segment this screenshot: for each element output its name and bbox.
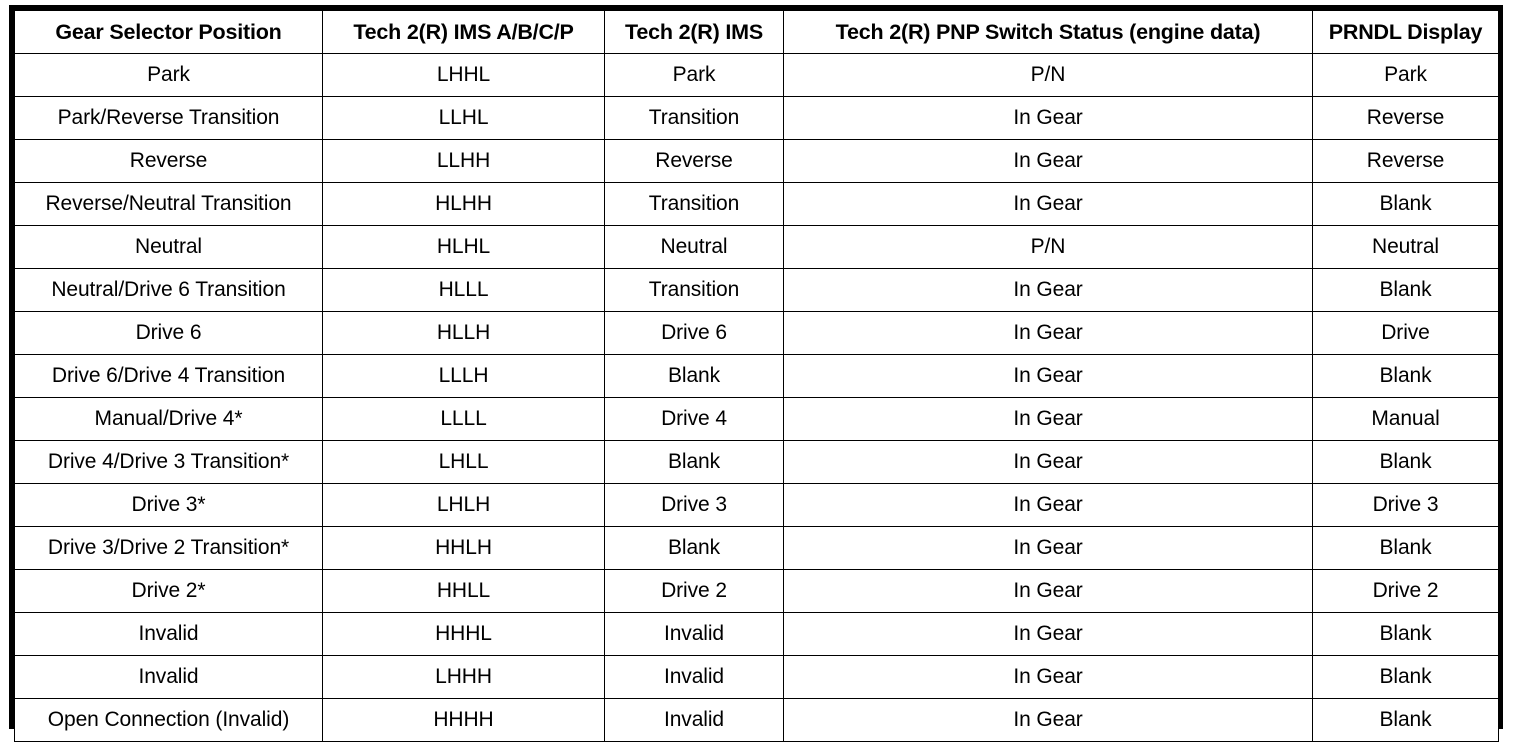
cell-gear_selector_position: Drive 6 xyxy=(15,312,323,355)
cell-tech2_ims: Blank xyxy=(605,441,784,484)
cell-tech2_ims: Drive 3 xyxy=(605,484,784,527)
cell-tech2_ims: Invalid xyxy=(605,656,784,699)
table-row: ParkLHHLParkP/NPark xyxy=(15,54,1499,97)
cell-tech2_pnp_switch: In Gear xyxy=(784,183,1313,226)
cell-gear_selector_position: Open Connection (Invalid) xyxy=(15,699,323,742)
cell-tech2_ims_abcp: HHLH xyxy=(323,527,605,570)
cell-gear_selector_position: Neutral xyxy=(15,226,323,269)
cell-tech2_ims_abcp: LHHH xyxy=(323,656,605,699)
cell-gear_selector_position: Manual/Drive 4* xyxy=(15,398,323,441)
cell-tech2_ims: Transition xyxy=(605,97,784,140)
table-row: ReverseLLHHReverseIn GearReverse xyxy=(15,140,1499,183)
cell-tech2_pnp_switch: In Gear xyxy=(784,269,1313,312)
table-row: Neutral/Drive 6 TransitionHLLLTransition… xyxy=(15,269,1499,312)
cell-tech2_pnp_switch: P/N xyxy=(784,54,1313,97)
table-row: Drive 3*LHLHDrive 3In GearDrive 3 xyxy=(15,484,1499,527)
cell-prndl_display: Park xyxy=(1313,54,1499,97)
column-header-prndl-display: PRNDL Display xyxy=(1313,11,1499,54)
cell-tech2_ims_abcp: LLHL xyxy=(323,97,605,140)
cell-gear_selector_position: Drive 3* xyxy=(15,484,323,527)
table-header-row: Gear Selector Position Tech 2(R) IMS A/B… xyxy=(15,11,1499,54)
table-body: ParkLHHLParkP/NParkPark/Reverse Transiti… xyxy=(15,54,1499,742)
cell-prndl_display: Drive xyxy=(1313,312,1499,355)
cell-gear_selector_position: Reverse/Neutral Transition xyxy=(15,183,323,226)
cell-prndl_display: Blank xyxy=(1313,527,1499,570)
cell-tech2_ims_abcp: LHLH xyxy=(323,484,605,527)
cell-tech2_ims: Park xyxy=(605,54,784,97)
cell-prndl_display: Blank xyxy=(1313,269,1499,312)
cell-tech2_ims_abcp: LHHL xyxy=(323,54,605,97)
column-header-gear-selector-position: Gear Selector Position xyxy=(15,11,323,54)
table-row: NeutralHLHLNeutralP/NNeutral xyxy=(15,226,1499,269)
cell-tech2_ims: Blank xyxy=(605,527,784,570)
cell-tech2_pnp_switch: In Gear xyxy=(784,441,1313,484)
cell-tech2_ims: Transition xyxy=(605,183,784,226)
cell-tech2_ims: Blank xyxy=(605,355,784,398)
cell-prndl_display: Drive 3 xyxy=(1313,484,1499,527)
cell-tech2_ims_abcp: HLHH xyxy=(323,183,605,226)
cell-gear_selector_position: Invalid xyxy=(15,656,323,699)
cell-tech2_ims: Drive 4 xyxy=(605,398,784,441)
cell-tech2_ims: Invalid xyxy=(605,613,784,656)
cell-tech2_pnp_switch: In Gear xyxy=(784,613,1313,656)
table-row: Drive 3/Drive 2 Transition*HHLHBlankIn G… xyxy=(15,527,1499,570)
cell-tech2_ims: Transition xyxy=(605,269,784,312)
cell-tech2_ims_abcp: LLLH xyxy=(323,355,605,398)
cell-prndl_display: Blank xyxy=(1313,355,1499,398)
cell-gear_selector_position: Drive 6/Drive 4 Transition xyxy=(15,355,323,398)
cell-tech2_pnp_switch: In Gear xyxy=(784,699,1313,742)
gear-selector-table-container: Gear Selector Position Tech 2(R) IMS A/B… xyxy=(9,5,1503,729)
cell-tech2_ims: Drive 6 xyxy=(605,312,784,355)
cell-prndl_display: Blank xyxy=(1313,183,1499,226)
table-row: InvalidLHHHInvalidIn GearBlank xyxy=(15,656,1499,699)
cell-tech2_ims_abcp: HLLL xyxy=(323,269,605,312)
table-row: Reverse/Neutral TransitionHLHHTransition… xyxy=(15,183,1499,226)
cell-tech2_ims: Drive 2 xyxy=(605,570,784,613)
cell-gear_selector_position: Drive 3/Drive 2 Transition* xyxy=(15,527,323,570)
table-row: Drive 6/Drive 4 TransitionLLLHBlankIn Ge… xyxy=(15,355,1499,398)
cell-prndl_display: Reverse xyxy=(1313,140,1499,183)
cell-tech2_ims_abcp: HHHL xyxy=(323,613,605,656)
table-row: Park/Reverse TransitionLLHLTransitionIn … xyxy=(15,97,1499,140)
table-row: Manual/Drive 4*LLLLDrive 4In GearManual xyxy=(15,398,1499,441)
cell-prndl_display: Reverse xyxy=(1313,97,1499,140)
cell-gear_selector_position: Invalid xyxy=(15,613,323,656)
cell-tech2_pnp_switch: In Gear xyxy=(784,484,1313,527)
cell-tech2_pnp_switch: In Gear xyxy=(784,656,1313,699)
cell-tech2_pnp_switch: In Gear xyxy=(784,398,1313,441)
cell-gear_selector_position: Drive 4/Drive 3 Transition* xyxy=(15,441,323,484)
table-row: InvalidHHHLInvalidIn GearBlank xyxy=(15,613,1499,656)
cell-prndl_display: Blank xyxy=(1313,656,1499,699)
cell-prndl_display: Blank xyxy=(1313,699,1499,742)
cell-tech2_pnp_switch: In Gear xyxy=(784,570,1313,613)
cell-tech2_pnp_switch: In Gear xyxy=(784,527,1313,570)
gear-selector-position-table: Gear Selector Position Tech 2(R) IMS A/B… xyxy=(14,10,1499,742)
table-row: Drive 4/Drive 3 Transition*LHLLBlankIn G… xyxy=(15,441,1499,484)
column-header-tech2-ims: Tech 2(R) IMS xyxy=(605,11,784,54)
cell-tech2_ims: Reverse xyxy=(605,140,784,183)
cell-gear_selector_position: Park/Reverse Transition xyxy=(15,97,323,140)
cell-prndl_display: Blank xyxy=(1313,441,1499,484)
cell-prndl_display: Manual xyxy=(1313,398,1499,441)
column-header-tech2-pnp-switch-status: Tech 2(R) PNP Switch Status (engine data… xyxy=(784,11,1313,54)
cell-tech2_ims_abcp: LLHH xyxy=(323,140,605,183)
table-row: Drive 6HLLHDrive 6In GearDrive xyxy=(15,312,1499,355)
cell-tech2_pnp_switch: In Gear xyxy=(784,312,1313,355)
cell-tech2_ims_abcp: LHLL xyxy=(323,441,605,484)
cell-tech2_pnp_switch: In Gear xyxy=(784,355,1313,398)
column-header-tech2-ims-abcp: Tech 2(R) IMS A/B/C/P xyxy=(323,11,605,54)
cell-tech2_pnp_switch: In Gear xyxy=(784,140,1313,183)
table-row: Drive 2*HHLLDrive 2In GearDrive 2 xyxy=(15,570,1499,613)
cell-tech2_ims_abcp: HLHL xyxy=(323,226,605,269)
cell-tech2_ims: Neutral xyxy=(605,226,784,269)
cell-prndl_display: Drive 2 xyxy=(1313,570,1499,613)
cell-gear_selector_position: Reverse xyxy=(15,140,323,183)
cell-tech2_ims_abcp: HLLH xyxy=(323,312,605,355)
cell-tech2_pnp_switch: P/N xyxy=(784,226,1313,269)
cell-tech2_ims: Invalid xyxy=(605,699,784,742)
cell-gear_selector_position: Neutral/Drive 6 Transition xyxy=(15,269,323,312)
cell-tech2_ims_abcp: LLLL xyxy=(323,398,605,441)
cell-gear_selector_position: Park xyxy=(15,54,323,97)
cell-prndl_display: Blank xyxy=(1313,613,1499,656)
cell-gear_selector_position: Drive 2* xyxy=(15,570,323,613)
table-row: Open Connection (Invalid)HHHHInvalidIn G… xyxy=(15,699,1499,742)
cell-prndl_display: Neutral xyxy=(1313,226,1499,269)
cell-tech2_ims_abcp: HHHH xyxy=(323,699,605,742)
table-header: Gear Selector Position Tech 2(R) IMS A/B… xyxy=(15,11,1499,54)
cell-tech2_ims_abcp: HHLL xyxy=(323,570,605,613)
cell-tech2_pnp_switch: In Gear xyxy=(784,97,1313,140)
